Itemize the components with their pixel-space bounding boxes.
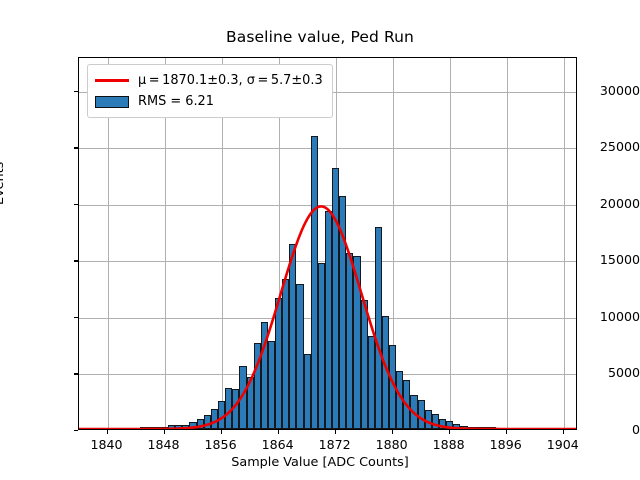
y-tick-label: 5000: [572, 365, 640, 380]
x-tick-label: 1848: [134, 437, 194, 452]
x-tick-label: 1864: [248, 437, 308, 452]
x-axis-label: Sample Value [ADC Counts]: [0, 455, 640, 470]
x-tick-mark: [335, 430, 336, 434]
x-tick-label: 1904: [533, 437, 593, 452]
y-tick-mark: [74, 317, 78, 318]
x-tick-label: 1888: [419, 437, 479, 452]
y-tick-label: 20000: [572, 196, 640, 211]
y-tick-label: 15000: [572, 252, 640, 267]
x-tick-mark: [506, 430, 507, 434]
x-tick-label: 1856: [191, 437, 251, 452]
legend-item-histogram: RMS = 6.21: [95, 91, 323, 112]
legend-item-fit: μ = 1870.1±0.3, σ = 5.7±0.3: [95, 70, 323, 91]
y-tick-mark: [74, 91, 78, 92]
y-tick-label: 25000: [572, 139, 640, 154]
x-tick-label: 1840: [77, 437, 137, 452]
y-tick-mark: [74, 147, 78, 148]
y-tick-mark: [74, 430, 78, 431]
x-tick-mark: [221, 430, 222, 434]
y-tick-mark: [74, 260, 78, 261]
legend-rms-label: RMS = 6.21: [138, 94, 214, 109]
y-tick-label: 30000: [572, 83, 640, 98]
legend-fit-label: μ = 1870.1±0.3, σ = 5.7±0.3: [138, 73, 323, 88]
x-tick-mark: [563, 430, 564, 434]
x-tick-mark: [278, 430, 279, 434]
x-tick-mark: [449, 430, 450, 434]
x-tick-mark: [164, 430, 165, 434]
chart-figure: Baseline value, Ped Run 0500010000150002…: [0, 0, 640, 480]
histogram-patch-swatch-icon: [95, 96, 129, 108]
chart-legend: μ = 1870.1±0.3, σ = 5.7±0.3 RMS = 6.21: [87, 64, 333, 118]
x-tick-label: 1880: [362, 437, 422, 452]
fit-line-swatch-icon: [95, 79, 129, 82]
y-tick-mark: [74, 373, 78, 374]
x-tick-mark: [392, 430, 393, 434]
chart-title: Baseline value, Ped Run: [0, 28, 640, 46]
y-axis-label: Events: [0, 162, 7, 205]
y-tick-label: 0: [572, 422, 640, 437]
x-tick-label: 1896: [476, 437, 536, 452]
y-tick-label: 10000: [572, 309, 640, 324]
y-tick-mark: [74, 204, 78, 205]
x-tick-label: 1872: [305, 437, 365, 452]
x-tick-mark: [107, 430, 108, 434]
